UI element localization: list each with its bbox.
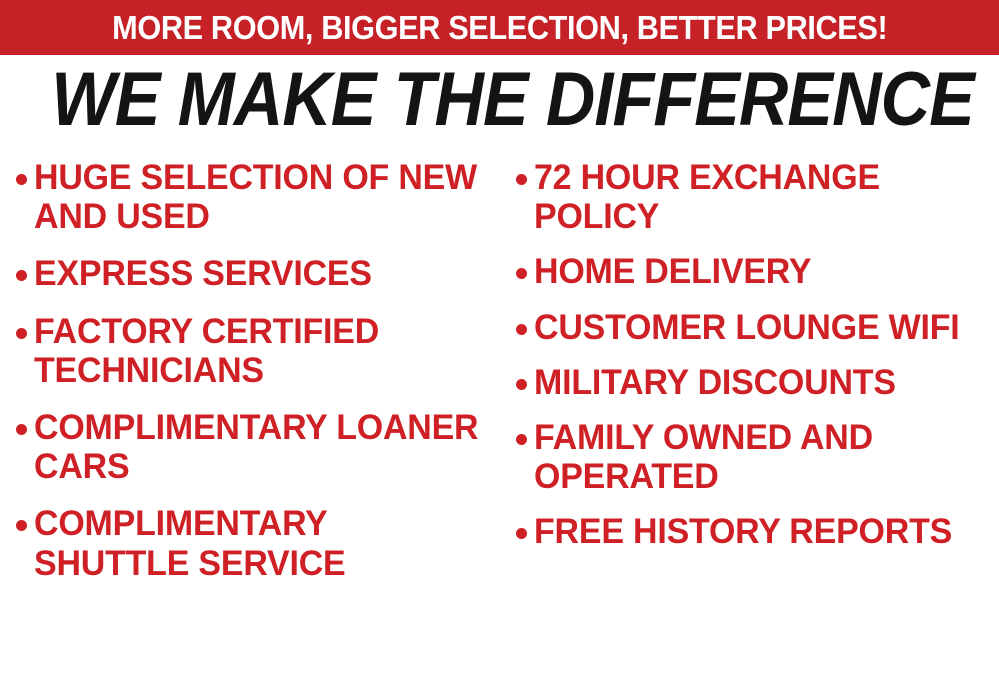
feature-column-right: 72 HOUR EXCHANGE POLICY HOME DELIVERY CU… <box>508 158 999 688</box>
list-item: FACTORY CERTIFIED TECHNICIANS <box>8 312 500 390</box>
list-item: FREE HISTORY REPORTS <box>508 512 999 551</box>
bullet-icon <box>508 363 534 390</box>
list-item: HUGE SELECTION OF NEW AND USED <box>8 158 500 236</box>
bullet-icon <box>8 504 34 531</box>
list-item-label: CUSTOMER LOUNGE WIFI <box>534 308 985 347</box>
list-item-label: COMPLIMENTARY LOANER CARS <box>34 408 486 486</box>
list-item: MILITARY DISCOUNTS <box>508 363 999 402</box>
list-item: FAMILY OWNED AND OPERATED <box>508 418 999 496</box>
bullet-icon <box>508 512 534 539</box>
headline-text: WE MAKE THE DIFFERENCE <box>51 62 974 138</box>
list-item-label: FREE HISTORY REPORTS <box>534 512 985 551</box>
bullet-icon <box>508 252 534 279</box>
list-item-label: MILITARY DISCOUNTS <box>534 363 985 402</box>
bullet-icon <box>508 418 534 445</box>
list-item-label: 72 HOUR EXCHANGE POLICY <box>534 158 985 236</box>
bullet-icon <box>508 308 534 335</box>
feature-column-left: HUGE SELECTION OF NEW AND USED EXPRESS S… <box>8 158 500 688</box>
list-item: CUSTOMER LOUNGE WIFI <box>508 308 999 347</box>
bullet-icon <box>508 158 534 185</box>
dealership-advertisement: MORE ROOM, BIGGER SELECTION, BETTER PRIC… <box>0 0 999 692</box>
list-item: COMPLIMENTARY LOANER CARS <box>8 408 500 486</box>
headline: WE MAKE THE DIFFERENCE <box>0 62 999 138</box>
list-item: COMPLIMENTARY SHUTTLE SERVICE <box>8 504 500 582</box>
feature-lists: HUGE SELECTION OF NEW AND USED EXPRESS S… <box>0 158 999 688</box>
bullet-icon <box>8 408 34 435</box>
list-item-label: FACTORY CERTIFIED TECHNICIANS <box>34 312 486 390</box>
bullet-icon <box>8 254 34 281</box>
promo-banner-text: MORE ROOM, BIGGER SELECTION, BETTER PRIC… <box>112 11 887 44</box>
list-item-label: HUGE SELECTION OF NEW AND USED <box>34 158 486 236</box>
list-item-label: EXPRESS SERVICES <box>34 254 486 293</box>
promo-banner: MORE ROOM, BIGGER SELECTION, BETTER PRIC… <box>0 0 999 55</box>
list-item: HOME DELIVERY <box>508 252 999 291</box>
bullet-icon <box>8 158 34 185</box>
list-item-label: FAMILY OWNED AND OPERATED <box>534 418 985 496</box>
list-item-label: COMPLIMENTARY SHUTTLE SERVICE <box>34 504 486 582</box>
bullet-icon <box>8 312 34 339</box>
list-item: EXPRESS SERVICES <box>8 254 500 293</box>
list-item: 72 HOUR EXCHANGE POLICY <box>508 158 999 236</box>
list-item-label: HOME DELIVERY <box>534 252 985 291</box>
